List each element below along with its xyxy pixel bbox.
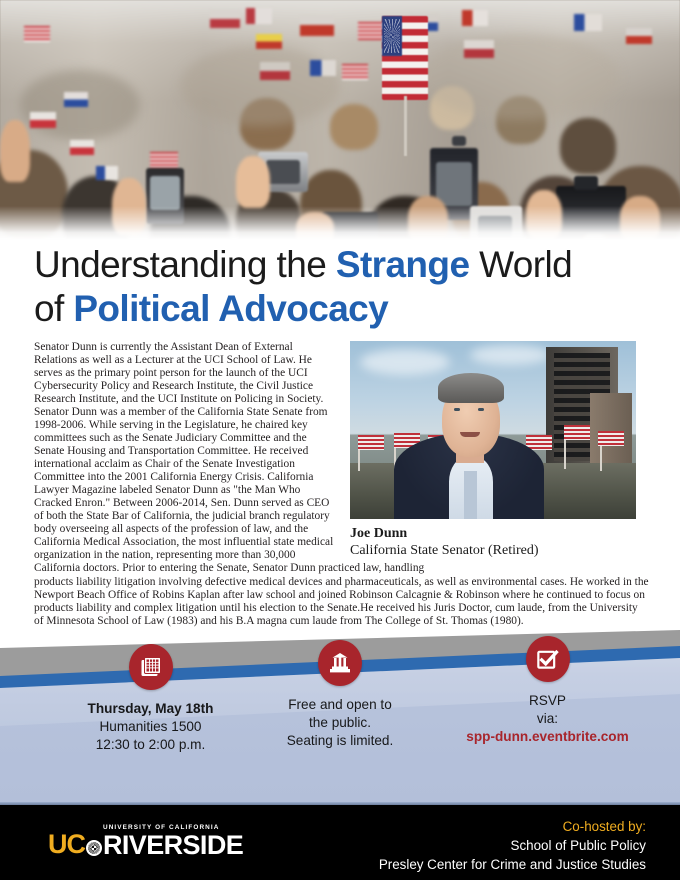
speaker-caption: Joe Dunn California State Senator (Retir… <box>350 525 650 560</box>
rsvp-via-label: via: <box>425 710 670 728</box>
title-line2-plain: of <box>34 288 73 329</box>
small-flag <box>96 166 118 180</box>
crowd-blur <box>180 46 340 126</box>
small-flag <box>310 60 336 76</box>
raised-hand <box>0 120 30 182</box>
small-flag <box>30 112 56 128</box>
crowd-head <box>560 118 616 174</box>
speaker-name: Joe Dunn <box>350 525 650 542</box>
hero-bottom-fade <box>0 206 680 240</box>
speaker-title: California State Senator (Retired) <box>350 542 650 560</box>
biography-continued: products liability litigation involving … <box>34 575 650 628</box>
us-flag <box>598 431 624 446</box>
event-flyer: Understanding the Strange World of Polit… <box>0 0 680 880</box>
cloud <box>470 345 550 365</box>
speaker-block: Joe Dunn California State Senator (Retir… <box>350 341 650 560</box>
title-line1-plain-2: World <box>469 244 572 285</box>
small-flag <box>24 26 50 42</box>
dslr-viewfinder <box>574 176 598 190</box>
uc-riverside-logo: UC UNIVERSITY OF CALIFORNIA RIVERSIDE <box>48 824 243 858</box>
detail-lines-rsvp: RSVP via: spp-dunn.eventbrite.com <box>425 692 670 746</box>
small-flag <box>574 14 602 31</box>
raised-hand <box>236 156 270 208</box>
camera-screen <box>266 160 300 184</box>
cohost-org-2: Presley Center for Crime and Justice Stu… <box>379 855 646 874</box>
title-line1-highlight: Strange <box>336 244 470 285</box>
admission-line-2: the public. <box>250 714 430 732</box>
small-flag <box>626 28 652 44</box>
detail-lines-admission: Free and open to the public. Seating is … <box>250 696 430 750</box>
title-line-2: of Political Advocacy <box>34 287 654 331</box>
hair <box>438 373 504 403</box>
detail-column-admission: Free and open to the public. Seating is … <box>250 684 430 750</box>
small-flag <box>210 10 240 28</box>
rsvp-label: RSVP <box>425 692 670 710</box>
seating-note: Seating is limited. <box>250 732 430 750</box>
small-flag <box>300 16 334 36</box>
detail-column-date: Thursday, May 18th Humanities 1500 12:30… <box>28 684 273 754</box>
cohost-org-1: School of Public Policy <box>379 836 646 855</box>
footer: UC UNIVERSITY OF CALIFORNIA RIVERSIDE Co… <box>0 802 680 880</box>
title-line-1: Understanding the Strange World <box>34 243 654 287</box>
logo-wordmark: UNIVERSITY OF CALIFORNIA RIVERSIDE <box>103 824 243 858</box>
detail-lines-date: Thursday, May 18th Humanities 1500 12:30… <box>28 700 273 754</box>
speaker-figure <box>394 369 544 519</box>
us-flag-large <box>382 16 428 100</box>
footer-top-rule <box>0 802 680 805</box>
event-time: 12:30 to 2:00 p.m. <box>28 736 273 754</box>
cohost-label: Co-hosted by: <box>379 818 646 836</box>
crowd-head <box>330 104 378 150</box>
event-date: Thursday, May 18th <box>28 700 273 718</box>
small-flag <box>256 34 282 49</box>
uc-seal-icon <box>86 840 102 856</box>
small-flag <box>70 140 94 155</box>
small-flag <box>462 10 488 26</box>
small-flag <box>342 64 368 80</box>
mouth <box>460 432 480 437</box>
phone-camera-lens <box>452 136 466 146</box>
event-details: Thursday, May 18th Humanities 1500 12:30… <box>0 630 680 802</box>
us-flag <box>564 425 590 440</box>
logo-campus-name: RIVERSIDE <box>103 832 243 858</box>
admission-line-1: Free and open to <box>250 696 430 714</box>
phone-screen <box>436 162 472 206</box>
calendar-icon <box>129 644 173 690</box>
phone-screen <box>150 176 180 210</box>
eye <box>454 408 460 411</box>
rsvp-link[interactable]: spp-dunn.eventbrite.com <box>425 728 670 746</box>
small-flag <box>464 40 494 58</box>
page-title: Understanding the Strange World of Polit… <box>34 243 654 331</box>
us-flag <box>358 435 384 450</box>
small-flag <box>246 8 272 24</box>
government-building-icon <box>318 640 362 686</box>
joe-dunn-portrait-photo <box>350 341 636 519</box>
flag-pole <box>404 96 407 156</box>
title-line2-highlight: Political Advocacy <box>73 288 388 329</box>
logo-uc-text: UC <box>48 831 85 858</box>
small-flag <box>260 62 290 80</box>
hero-crowd-photo <box>0 0 680 240</box>
title-line1-plain: Understanding the <box>34 244 336 285</box>
necktie <box>464 471 477 519</box>
event-location: Humanities 1500 <box>28 718 273 736</box>
content-block: Joe Dunn California State Senator (Retir… <box>34 341 650 628</box>
cohost-block: Co-hosted by: School of Public Policy Pr… <box>379 818 646 874</box>
crowd-blur <box>420 34 620 120</box>
checkbox-check-icon <box>526 636 570 682</box>
small-flag <box>64 92 88 107</box>
detail-column-rsvp: RSVP via: spp-dunn.eventbrite.com <box>425 684 670 746</box>
eye <box>478 408 484 411</box>
